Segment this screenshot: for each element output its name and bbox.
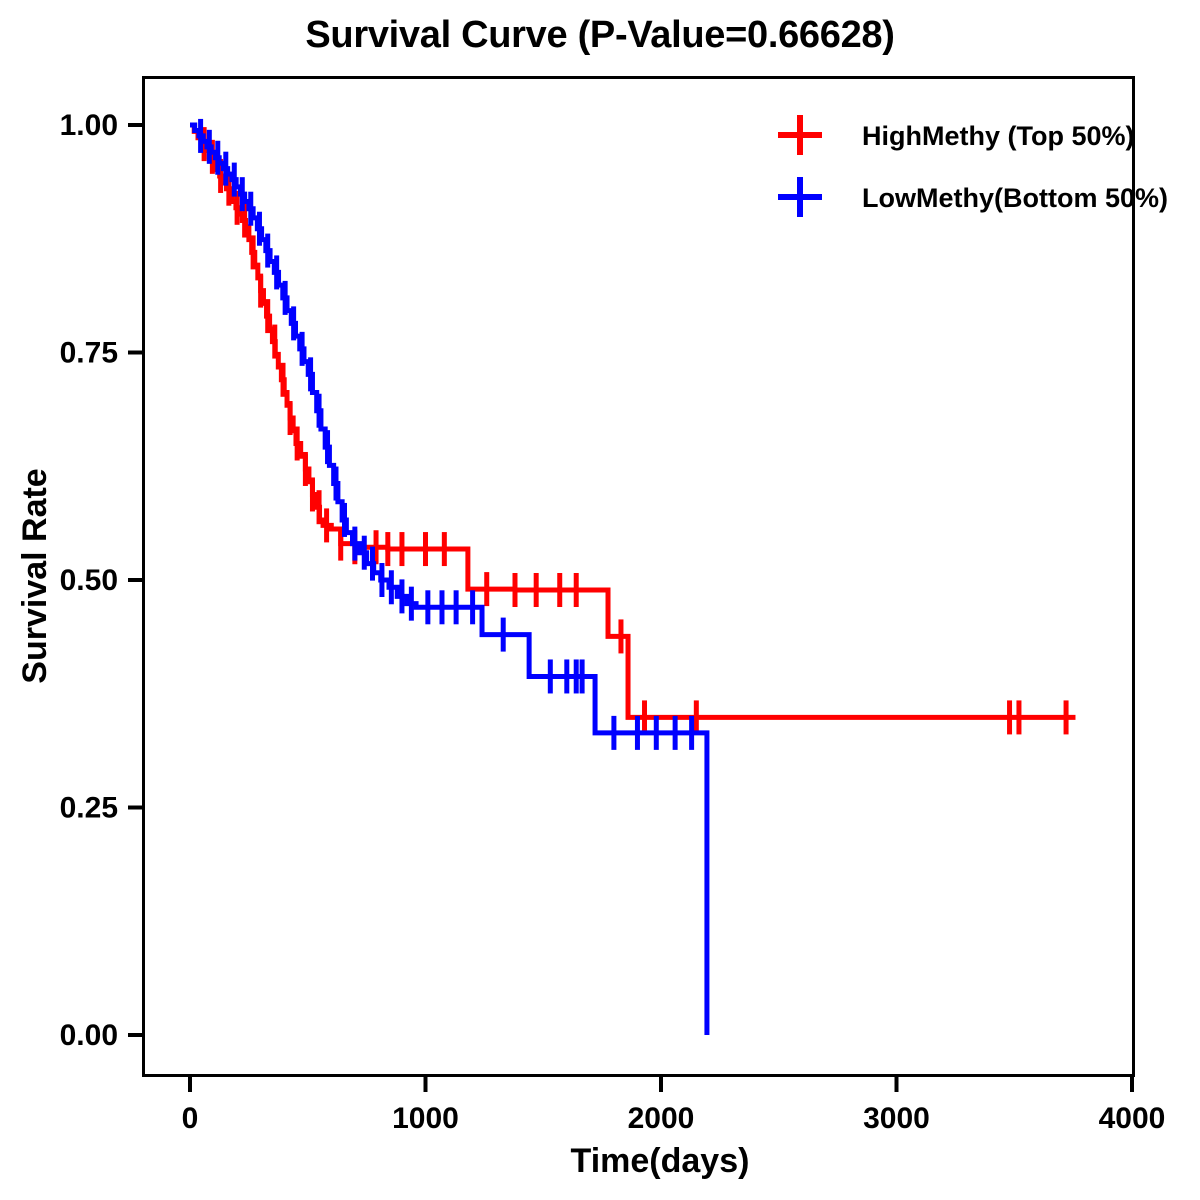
x-axis-title: Time(days) bbox=[571, 1142, 750, 1180]
x-tick-label: 3000 bbox=[863, 1102, 930, 1135]
x-tick-label: 2000 bbox=[628, 1102, 695, 1135]
y-axis-title: Survival Rate bbox=[16, 468, 54, 683]
legend-item: LowMethy(Bottom 50%) bbox=[778, 177, 1168, 217]
series-low-methy bbox=[190, 119, 707, 1035]
x-tick-label: 0 bbox=[182, 1102, 199, 1135]
legend-label: HighMethy (Top 50%) bbox=[862, 121, 1135, 151]
y-axis-ticks: 0.000.250.500.751.00 bbox=[60, 109, 143, 1052]
survival-curve-figure: Survival Curve (P-Value=0.66628) 0.000.2… bbox=[0, 0, 1200, 1200]
y-tick-label: 0.00 bbox=[60, 1019, 118, 1052]
survival-plot: 0.000.250.500.751.00 01000200030004000 S… bbox=[0, 0, 1200, 1200]
y-tick-label: 0.75 bbox=[60, 337, 118, 370]
y-tick-label: 1.00 bbox=[60, 109, 118, 142]
plot-frame bbox=[144, 78, 1134, 1076]
chart-legend: HighMethy (Top 50%)LowMethy(Bottom 50%) bbox=[778, 115, 1168, 217]
x-tick-label: 1000 bbox=[392, 1102, 459, 1135]
series-layer bbox=[190, 119, 1075, 1035]
legend-label: LowMethy(Bottom 50%) bbox=[862, 183, 1168, 213]
y-tick-label: 0.25 bbox=[60, 792, 118, 825]
y-tick-label: 0.50 bbox=[60, 564, 118, 597]
x-tick-label: 4000 bbox=[1099, 1102, 1166, 1135]
x-axis-ticks: 01000200030004000 bbox=[182, 1076, 1166, 1135]
legend-item: HighMethy (Top 50%) bbox=[778, 115, 1135, 155]
